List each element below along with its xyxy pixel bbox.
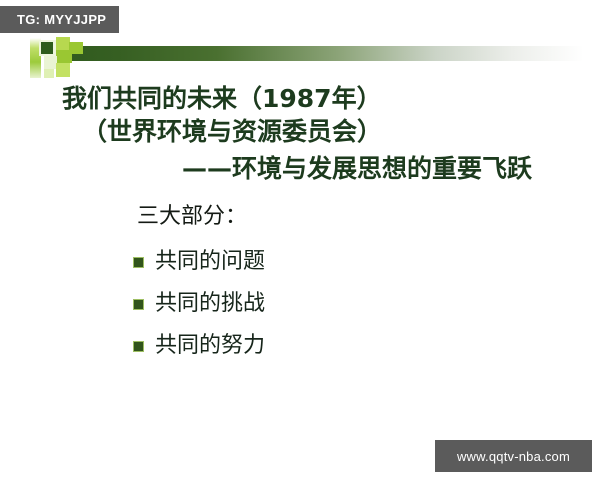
slide-title-block: 我们共同的未来（1987年） （世界环境与资源委员会） ——环境与发展思想的重要…: [0, 82, 600, 185]
slide-title-line-2: （世界环境与资源委员会）: [82, 115, 600, 148]
telegram-watermark-badge: TG: MYYJJPP: [0, 6, 119, 33]
list-item: 共同的挑战: [133, 283, 600, 325]
decorative-square-mid-2-icon: [69, 42, 83, 54]
bullet-list: 共同的问题 共同的挑战 共同的努力: [0, 241, 600, 367]
list-item: 共同的努力: [133, 325, 600, 367]
green-gradient-rule-icon: [52, 46, 600, 61]
slide-title-line-1: 我们共同的未来（1987年）: [62, 82, 600, 115]
bullet-square-icon: [133, 257, 144, 268]
list-item-label: 共同的挑战: [155, 290, 265, 318]
bullet-square-icon: [133, 341, 144, 352]
list-item-label: 共同的问题: [155, 248, 265, 276]
telegram-watermark-text: TG: MYYJJPP: [17, 12, 106, 27]
slide-body-block: 三大部分： 共同的问题 共同的挑战 共同的努力: [0, 202, 600, 367]
presentation-slide: TG: MYYJJPP 我们共同的未来（1987年） （世界环境与资源委员会） …: [0, 0, 600, 480]
site-watermark-text: www.qqtv-nba.com: [457, 449, 570, 464]
decorative-square-faint-icon: [44, 69, 54, 78]
decorative-square-dark-icon: [41, 42, 53, 54]
slide-title-subtitle: ——环境与发展思想的重要飞跃: [182, 152, 600, 185]
list-item: 共同的问题: [133, 241, 600, 283]
list-item-label: 共同的努力: [155, 332, 265, 360]
body-heading: 三大部分：: [137, 202, 600, 232]
slide-header-decoration: [0, 36, 600, 86]
decorative-square-light-icon: [56, 63, 70, 77]
decorative-square-bright-icon: [56, 37, 70, 50]
site-watermark-badge: www.qqtv-nba.com: [435, 440, 592, 472]
bullet-square-icon: [133, 299, 144, 310]
